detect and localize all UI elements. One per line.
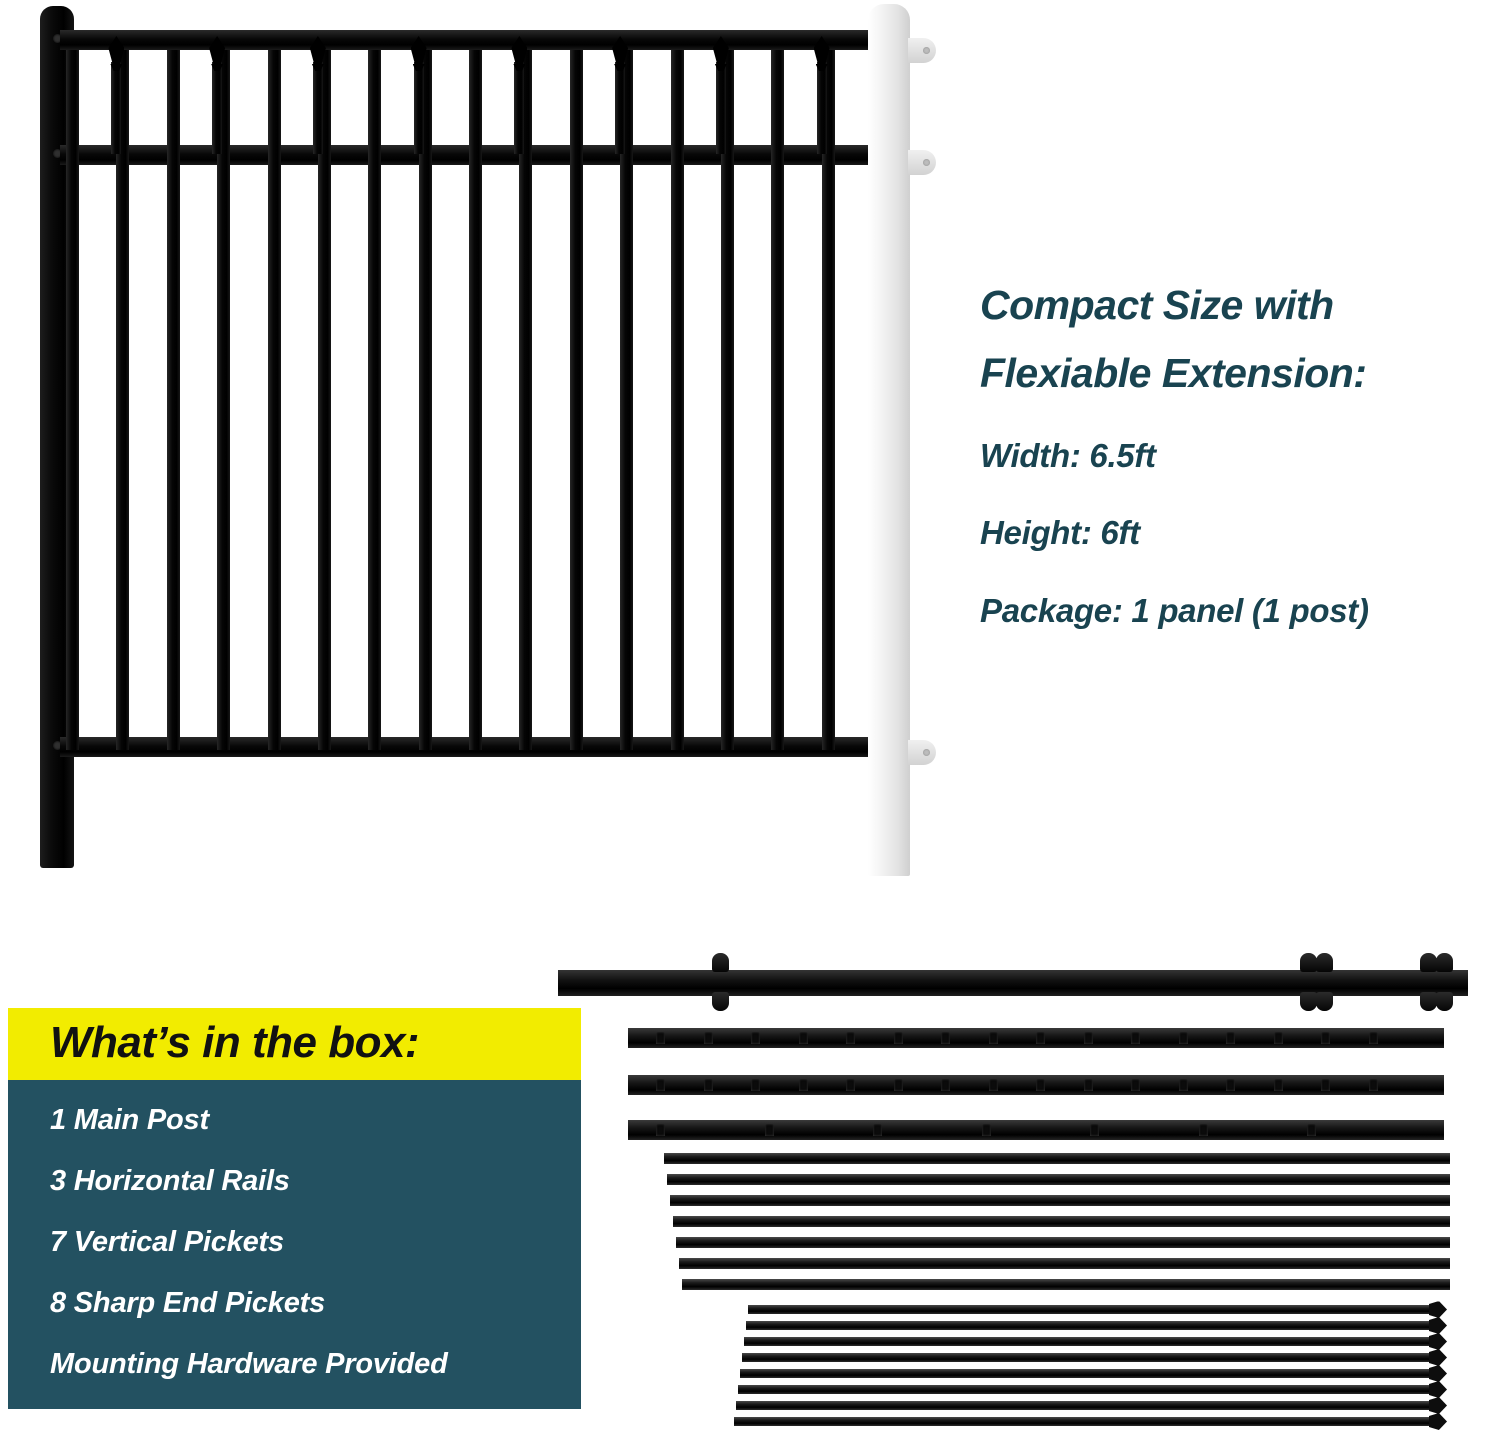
part-sharp-end-picket bbox=[738, 1385, 1430, 1394]
fence-tall-picket bbox=[519, 50, 532, 750]
sharp-spear-tip-icon bbox=[1429, 1397, 1447, 1414]
rail-picket-slot bbox=[1036, 1079, 1045, 1091]
main-post-mount-tab bbox=[712, 953, 729, 972]
whats-in-the-box-list: 1 Main Post3 Horizontal Rails7 Vertical … bbox=[8, 1080, 581, 1409]
spec-headline-line-1: Compact Size with bbox=[980, 285, 1490, 327]
white-post-tab-middle bbox=[908, 150, 936, 175]
rail-picket-slot bbox=[1036, 1032, 1045, 1044]
parts-breakdown-image bbox=[540, 948, 1500, 1415]
fence-finial-picket bbox=[615, 62, 625, 154]
rail-picket-slot bbox=[1369, 1079, 1378, 1091]
rail-picket-slot bbox=[1090, 1124, 1099, 1136]
sharp-spear-tip-icon bbox=[1429, 1317, 1447, 1334]
box-content-item: 7 Vertical Pickets bbox=[50, 1226, 581, 1259]
fence-finial-picket bbox=[716, 62, 726, 154]
rail-picket-slot bbox=[1084, 1079, 1093, 1091]
fence-tall-picket bbox=[771, 50, 784, 750]
fence-rail-top bbox=[60, 30, 875, 50]
rail-picket-slot bbox=[873, 1124, 882, 1136]
sharp-spear-tip-icon bbox=[1429, 1333, 1447, 1350]
fence-tall-picket bbox=[671, 50, 684, 750]
part-horizontal-rail bbox=[628, 1075, 1444, 1095]
rail-picket-slot bbox=[1274, 1079, 1283, 1091]
fence-finial-picket bbox=[212, 62, 222, 154]
main-post-mount-tab bbox=[1316, 992, 1333, 1011]
rail-picket-slot bbox=[751, 1032, 760, 1044]
part-vertical-picket bbox=[676, 1237, 1450, 1248]
spec-package: Package: 1 panel (1 post) bbox=[980, 594, 1490, 628]
part-sharp-end-picket bbox=[746, 1321, 1430, 1330]
part-vertical-picket bbox=[667, 1174, 1450, 1185]
part-horizontal-rail bbox=[628, 1120, 1444, 1140]
spec-headline: Compact Size with Flexiable Extension: bbox=[980, 285, 1490, 395]
rail-picket-slot bbox=[1179, 1032, 1188, 1044]
rail-picket-slot bbox=[894, 1079, 903, 1091]
fence-tall-picket bbox=[368, 50, 381, 750]
main-post-mount-tab bbox=[1300, 992, 1317, 1011]
sharp-spear-tip-icon bbox=[1429, 1349, 1447, 1366]
rail-picket-slot bbox=[799, 1079, 808, 1091]
fence-tall-picket bbox=[469, 50, 482, 750]
rail-picket-slot bbox=[982, 1124, 991, 1136]
main-post-mount-tab bbox=[712, 992, 729, 1011]
rail-picket-slot bbox=[751, 1079, 760, 1091]
spec-width: Width: 6.5ft bbox=[980, 439, 1490, 473]
sharp-spear-tip-icon bbox=[1429, 1381, 1447, 1398]
fence-right-white-post bbox=[868, 4, 910, 876]
rail-picket-slot bbox=[765, 1124, 774, 1136]
fence-finial-picket bbox=[414, 62, 424, 154]
rail-picket-slot bbox=[989, 1032, 998, 1044]
fence-tall-picket bbox=[167, 50, 180, 750]
part-horizontal-rail bbox=[628, 1028, 1444, 1048]
rail-picket-slot bbox=[1369, 1032, 1378, 1044]
assembled-fence-panel-image bbox=[0, 0, 960, 900]
product-infographic: Compact Size with Flexiable Extension: W… bbox=[0, 0, 1500, 1415]
part-vertical-picket bbox=[664, 1153, 1450, 1164]
rail-picket-slot bbox=[656, 1079, 665, 1091]
part-sharp-end-picket bbox=[748, 1305, 1430, 1314]
part-vertical-picket bbox=[682, 1279, 1450, 1290]
rail-picket-slot bbox=[1321, 1032, 1330, 1044]
rail-picket-slot bbox=[941, 1032, 950, 1044]
fence-tall-picket bbox=[318, 50, 331, 750]
rail-picket-slot bbox=[989, 1079, 998, 1091]
part-sharp-end-picket bbox=[736, 1401, 1430, 1410]
rail-picket-slot bbox=[656, 1032, 665, 1044]
fence-tall-picket bbox=[822, 50, 835, 750]
fence-tall-picket bbox=[419, 50, 432, 750]
rail-picket-slot bbox=[1131, 1032, 1140, 1044]
fence-rail-bottom bbox=[60, 737, 875, 757]
fence-tall-picket bbox=[116, 50, 129, 750]
fence-tall-picket bbox=[721, 50, 734, 750]
spec-headline-line-2: Flexiable Extension: bbox=[980, 353, 1490, 395]
part-vertical-picket bbox=[670, 1195, 1450, 1206]
main-post-mount-tab bbox=[1420, 992, 1437, 1011]
rail-picket-slot bbox=[1321, 1079, 1330, 1091]
white-post-tab-top bbox=[908, 38, 936, 63]
fence-finial-picket bbox=[313, 62, 323, 154]
rail-picket-slot bbox=[656, 1124, 665, 1136]
part-sharp-end-picket bbox=[744, 1337, 1430, 1346]
fence-tall-picket bbox=[268, 50, 281, 750]
rail-picket-slot bbox=[1084, 1032, 1093, 1044]
sharp-spear-tip-icon bbox=[1429, 1365, 1447, 1382]
rail-picket-slot bbox=[1179, 1079, 1188, 1091]
rail-picket-slot bbox=[1226, 1032, 1235, 1044]
main-post-mount-tab bbox=[1436, 953, 1453, 972]
fence-rail-middle bbox=[60, 145, 875, 165]
fence-finial-picket bbox=[111, 62, 121, 154]
rail-picket-slot bbox=[941, 1079, 950, 1091]
rail-picket-slot bbox=[846, 1032, 855, 1044]
rail-picket-slot bbox=[1199, 1124, 1208, 1136]
part-sharp-end-picket bbox=[740, 1369, 1430, 1378]
part-sharp-end-picket bbox=[742, 1353, 1430, 1362]
main-post-mount-tab bbox=[1300, 953, 1317, 972]
rail-picket-slot bbox=[846, 1079, 855, 1091]
fence-finial-picket bbox=[514, 62, 524, 154]
sharp-spear-tip-icon bbox=[1429, 1301, 1447, 1318]
sharp-spear-tip-icon bbox=[1429, 1413, 1447, 1430]
box-content-item: Mounting Hardware Provided bbox=[50, 1348, 581, 1381]
fence-tall-picket bbox=[66, 50, 79, 750]
white-post-tab-bottom bbox=[908, 740, 936, 765]
fence-tall-picket bbox=[620, 50, 633, 750]
main-post-mount-tab bbox=[1316, 953, 1333, 972]
rail-picket-slot bbox=[1274, 1032, 1283, 1044]
rail-picket-slot bbox=[1131, 1079, 1140, 1091]
part-vertical-picket bbox=[679, 1258, 1450, 1269]
part-vertical-picket bbox=[673, 1216, 1450, 1227]
rail-picket-slot bbox=[894, 1032, 903, 1044]
main-post-mount-tab bbox=[1420, 953, 1437, 972]
fence-finial-picket bbox=[817, 62, 827, 154]
box-content-item: 8 Sharp End Pickets bbox=[50, 1287, 581, 1320]
rail-picket-slot bbox=[704, 1079, 713, 1091]
box-content-item: 3 Horizontal Rails bbox=[50, 1165, 581, 1198]
fence-tall-picket bbox=[570, 50, 583, 750]
part-sharp-end-picket bbox=[734, 1417, 1430, 1426]
whats-in-the-box-title: What’s in the box: bbox=[8, 1008, 581, 1080]
spec-height: Height: 6ft bbox=[980, 516, 1490, 550]
rail-picket-slot bbox=[704, 1032, 713, 1044]
specification-block: Compact Size with Flexiable Extension: W… bbox=[980, 285, 1490, 628]
whats-in-the-box-panel: What’s in the box: 1 Main Post3 Horizont… bbox=[8, 1008, 581, 1409]
rail-picket-slot bbox=[1226, 1079, 1235, 1091]
fence-tall-picket bbox=[217, 50, 230, 750]
box-content-item: 1 Main Post bbox=[50, 1104, 581, 1137]
rail-picket-slot bbox=[799, 1032, 808, 1044]
rail-picket-slot bbox=[1307, 1124, 1316, 1136]
main-post-mount-tab bbox=[1436, 992, 1453, 1011]
